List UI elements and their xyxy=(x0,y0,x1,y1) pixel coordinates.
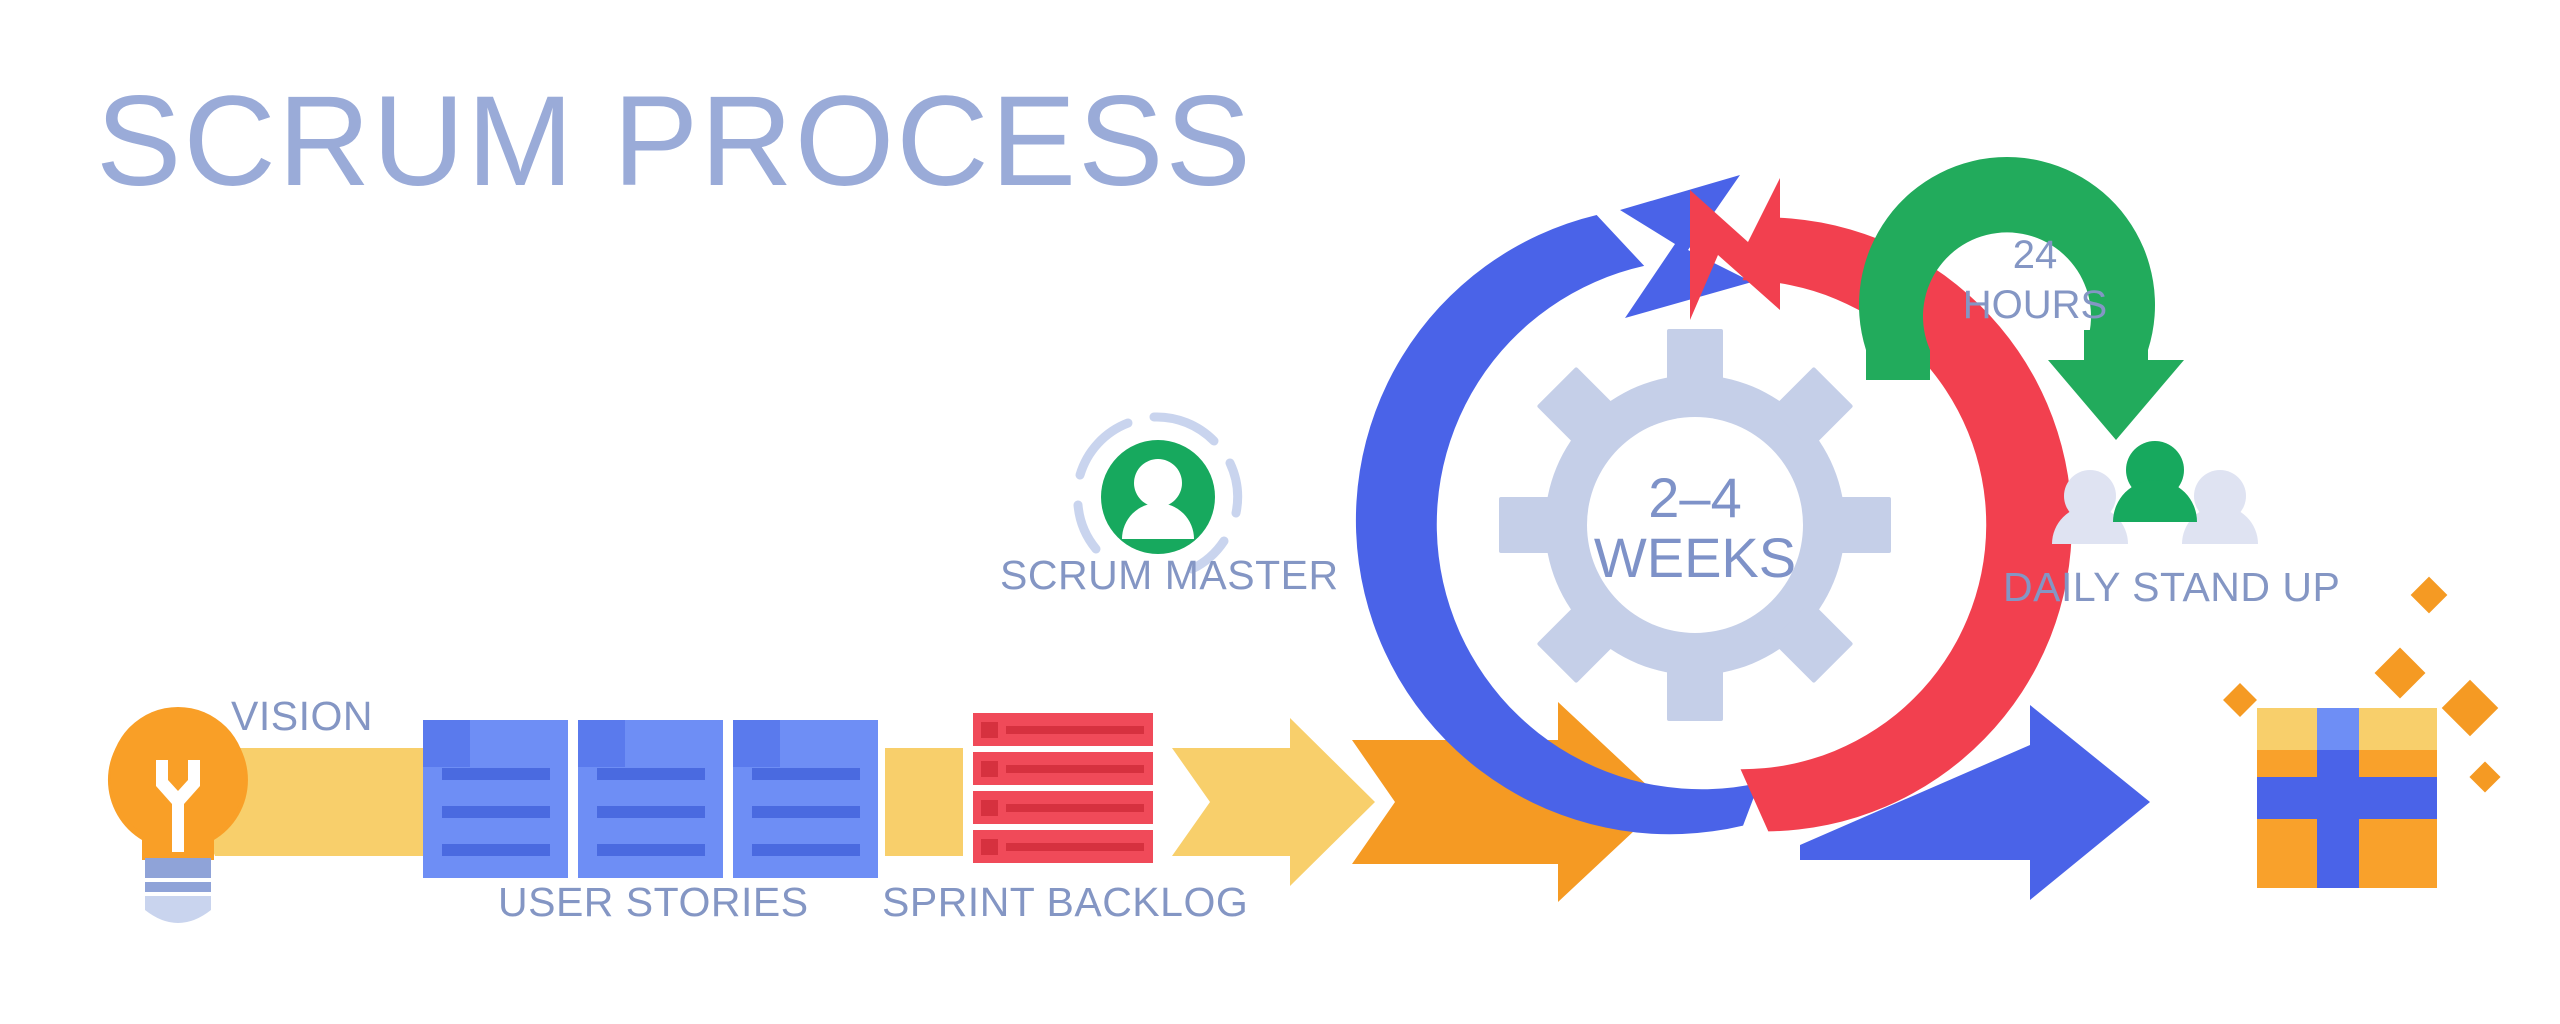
backlog-row xyxy=(973,830,1153,863)
document-icon xyxy=(578,720,723,878)
sparkle-icon xyxy=(2469,761,2500,792)
backlog-list-icon xyxy=(973,713,1153,863)
sparkle-icon xyxy=(2375,648,2426,699)
people-group-icon xyxy=(2052,441,2258,544)
gift-box-icon xyxy=(2257,708,2437,888)
infographic-canvas: SCRUM PROCESS VISION xyxy=(0,0,2560,1024)
lightbulb-icon xyxy=(108,707,248,923)
sprint-duration-unit: WEEKS xyxy=(1594,526,1796,589)
vision-label: VISION xyxy=(231,693,373,739)
scrum-master-label: SCRUM MASTER xyxy=(1000,552,1339,598)
delivery-stage xyxy=(2223,577,2501,888)
user-stories-label: USER STORIES xyxy=(498,879,809,925)
backlog-lead-band xyxy=(885,748,963,856)
sparkle-icon xyxy=(2223,683,2257,717)
vision-stage: VISION xyxy=(108,693,475,923)
scrum-master-stage: SCRUM MASTER xyxy=(1000,417,1339,598)
sprint-backlog-stage: SPRINT BACKLOG xyxy=(882,713,1248,925)
daily-standup-label: DAILY STAND UP xyxy=(2003,564,2340,610)
sprint-duration-value: 2–4 xyxy=(1648,466,1741,529)
gear-icon: 2–4 WEEKS xyxy=(1499,329,1891,721)
document-icon xyxy=(423,720,568,878)
standup-duration-unit: HOURS xyxy=(1963,283,2107,327)
user-stories-stage: USER STORIES xyxy=(423,720,878,925)
amber-flow-arrow-icon xyxy=(1172,718,1375,886)
sparkle-icon xyxy=(2411,577,2448,614)
scrum-master-avatar-icon xyxy=(1078,417,1238,569)
page-title: SCRUM PROCESS xyxy=(96,70,1253,213)
backlog-row xyxy=(973,713,1153,746)
document-icon xyxy=(733,720,878,878)
person-icon-active xyxy=(2113,441,2197,522)
sprint-backlog-label: SPRINT BACKLOG xyxy=(882,879,1248,925)
backlog-row xyxy=(973,752,1153,785)
standup-duration-value: 24 xyxy=(2013,233,2058,277)
backlog-row xyxy=(973,791,1153,824)
sparkle-icon xyxy=(2442,680,2499,737)
